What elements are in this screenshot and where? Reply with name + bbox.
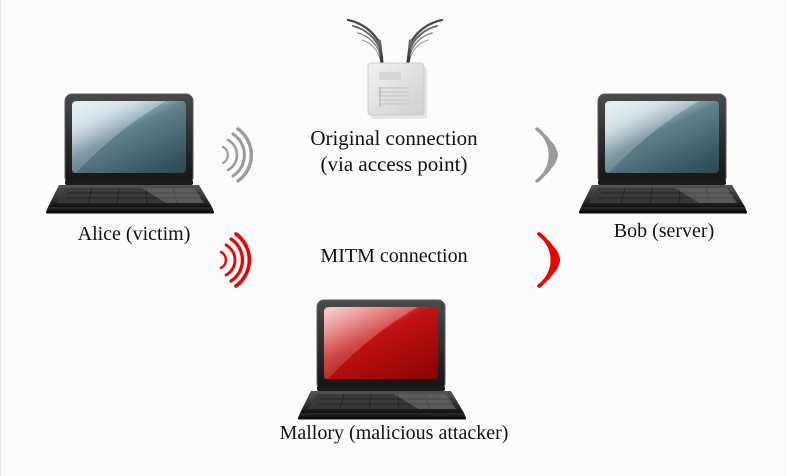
original-connection-label: Original connection (via access point) — [274, 125, 514, 178]
mallory-label: Mallory (malicious attacker) — [214, 421, 574, 446]
laptop-icon — [46, 90, 221, 215]
bob-label: Bob (server) — [544, 219, 784, 244]
wifi-arc-icon — [213, 126, 273, 184]
bob-laptop — [579, 90, 754, 215]
original-connection-line1: Original connection — [274, 125, 514, 151]
access-point-node — [338, 13, 458, 123]
signal-accesspoint-to-bob — [517, 126, 577, 184]
laptop-icon — [579, 90, 754, 215]
laptop-icon — [298, 296, 473, 421]
mallory-laptop — [298, 296, 473, 421]
alice-label: Alice (victim) — [14, 222, 254, 247]
alice-laptop — [46, 90, 221, 215]
wireless-access-point-icon — [338, 13, 458, 123]
wifi-arc-icon — [517, 126, 577, 184]
original-connection-line2: (via access point) — [274, 151, 514, 177]
signal-alice-to-accesspoint — [213, 126, 273, 184]
mitm-attack-diagram: Original connection (via access point) M… — [0, 0, 786, 476]
mitm-connection-label: MITM connection — [271, 244, 517, 269]
